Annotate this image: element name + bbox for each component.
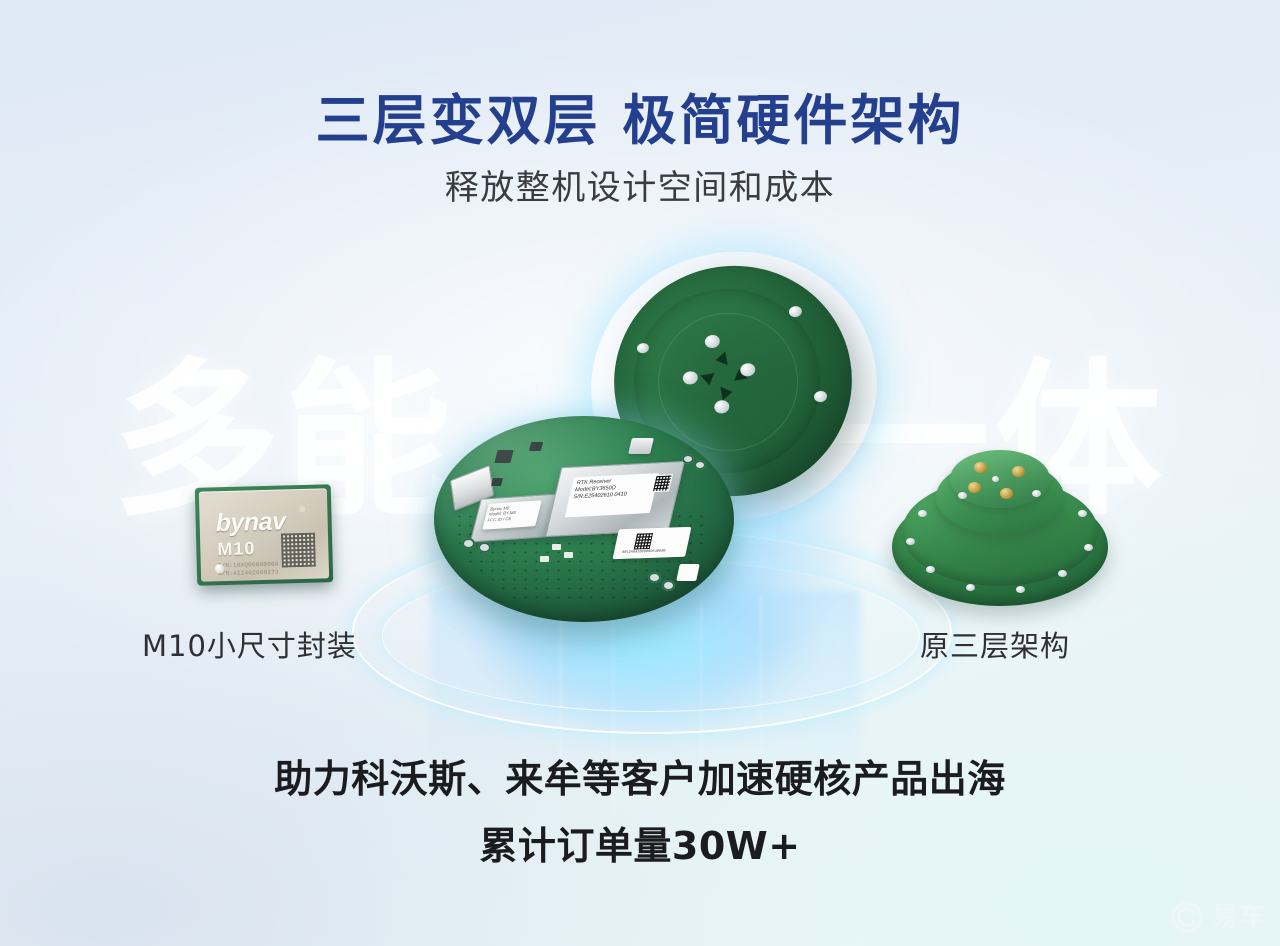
page-title: 三层变双层 极简硬件架构 bbox=[0, 76, 1280, 155]
secondary-label-line1: Bynav M8 bbox=[490, 503, 538, 512]
center-board-test-pad bbox=[682, 454, 694, 464]
stack-edge-screw bbox=[906, 538, 915, 545]
center-board-test-pad bbox=[662, 580, 675, 591]
product-m10-module: bynav ® M10 P/N:10XQ0000000A S/N:A124026… bbox=[195, 484, 334, 586]
stack-edge-screw bbox=[958, 492, 967, 499]
back-disc-arrow bbox=[720, 385, 733, 401]
m10-brand-logo: bynav bbox=[215, 507, 286, 538]
center-board-secondary-qr-icon bbox=[434, 416, 453, 434]
footer-brand-2: 来牟 bbox=[505, 757, 582, 801]
product-center-board: Bynav M8 Model: BY-M8 FCC ID / CE RTK Re… bbox=[434, 416, 734, 622]
m10-qr-code-icon bbox=[281, 533, 316, 568]
footer-line-1: 助力科沃斯、来牟等客户加速硬核产品出海 bbox=[0, 748, 1280, 803]
rtk-label-line3: S/N:E25402610 0410 bbox=[572, 490, 651, 501]
m10-metal-shield: bynav ® M10 P/N:10XQ0000000A S/N:A124026… bbox=[199, 488, 329, 581]
caption-m10-module: M10小尺寸封装 bbox=[142, 623, 357, 665]
center-board-via-field bbox=[454, 512, 710, 606]
center-board-barcode-label: 0012A601088000340600 bbox=[612, 527, 691, 559]
center-board-test-pad bbox=[694, 460, 706, 470]
center-board-body: Bynav M8 Model: BY-M8 FCC ID / CE RTK Re… bbox=[434, 416, 734, 622]
back-disc-standoff bbox=[813, 390, 828, 403]
footer-line-2: 累计订单量30W+ bbox=[0, 815, 1280, 870]
stack-brass-stud bbox=[968, 482, 981, 493]
back-disc-standoff bbox=[788, 305, 803, 318]
center-board-test-pad bbox=[478, 542, 491, 553]
product-three-layer-stack bbox=[892, 452, 1108, 620]
rtk-label-line2: Model:BY3650D bbox=[574, 483, 653, 494]
footer-line1-separator: 、 bbox=[467, 757, 506, 801]
site-watermark: 易车 bbox=[1170, 900, 1266, 934]
stack-edge-screw bbox=[1058, 570, 1067, 577]
center-board-ic bbox=[540, 556, 549, 562]
secondary-label-line2: Model: BY-M8 bbox=[488, 509, 536, 518]
stack-edge-screw bbox=[1016, 586, 1025, 593]
page-subtitle: 释放整机设计空间和成本 bbox=[0, 160, 1280, 209]
m10-identifiers: P/N:10XQ0000000A S/N:A12402600273 bbox=[218, 561, 279, 578]
m10-serial-number: S/N:A12402600273 bbox=[218, 568, 279, 577]
stack-brass-stud bbox=[1012, 466, 1025, 477]
light-rays bbox=[430, 590, 860, 850]
center-board-ic bbox=[564, 552, 573, 558]
stack-brass-stud bbox=[1000, 488, 1013, 499]
footer-line1-prefix: 助力 bbox=[274, 757, 351, 801]
center-board-ic bbox=[494, 450, 513, 463]
rtk-label-line1: RTK Receiver bbox=[576, 476, 655, 487]
center-board-ffc-connector bbox=[450, 465, 494, 511]
footer-brand-1: 科沃斯 bbox=[351, 757, 467, 801]
center-board-button bbox=[628, 438, 654, 454]
stack-edge-screw bbox=[1084, 544, 1093, 551]
rtk-receiver-label: RTK Receiver Model:BY3650D S/N:E25402610… bbox=[565, 473, 660, 517]
center-board-rtk-receiver-module: RTK Receiver Model:BY3650D S/N:E25402610… bbox=[545, 461, 685, 537]
yiche-wordmark: 易车 bbox=[1212, 904, 1266, 930]
stack-edge-screw bbox=[918, 510, 927, 517]
stack-center-pin bbox=[992, 476, 999, 482]
registered-trademark-icon: ® bbox=[299, 505, 305, 514]
caption-three-layer-stack: 原三层架构 bbox=[920, 623, 1070, 665]
barcode-text: 0012A601088000340600 bbox=[621, 549, 665, 555]
center-board-ic bbox=[491, 478, 503, 486]
rtk-receiver-qr-icon bbox=[652, 474, 673, 492]
barcode-qr-icon bbox=[632, 532, 654, 551]
stack-edge-screw bbox=[1032, 490, 1041, 497]
stack-brass-stud bbox=[974, 462, 987, 473]
center-board-ic bbox=[529, 442, 543, 451]
center-board-test-pad bbox=[462, 538, 475, 549]
center-board-secondary-label: Bynav M8 Model: BY-M8 FCC ID / CE bbox=[482, 500, 542, 530]
stack-edge-screw bbox=[926, 566, 935, 573]
slide-canvas: 多能 一体 三层变双层 极简硬件架构 释放整机设计空间和成本 bbox=[0, 0, 1280, 946]
light-streak bbox=[700, 600, 702, 840]
secondary-label-line3: FCC ID / CE bbox=[487, 514, 535, 523]
center-board-secondary-module bbox=[470, 493, 559, 542]
center-board-pad-block bbox=[676, 564, 700, 581]
center-board-ic bbox=[552, 544, 561, 550]
center-board-test-pad bbox=[648, 572, 661, 583]
footer-line1-suffix: 等客户加速硬核产品出海 bbox=[582, 757, 1006, 801]
stack-layer-top bbox=[950, 450, 1050, 508]
yiche-circle-icon bbox=[1170, 900, 1204, 934]
stack-edge-screw bbox=[966, 584, 975, 591]
stack-edge-screw bbox=[1078, 510, 1087, 517]
back-disc-arrow bbox=[714, 351, 727, 367]
m10-model-label: M10 bbox=[217, 538, 256, 560]
